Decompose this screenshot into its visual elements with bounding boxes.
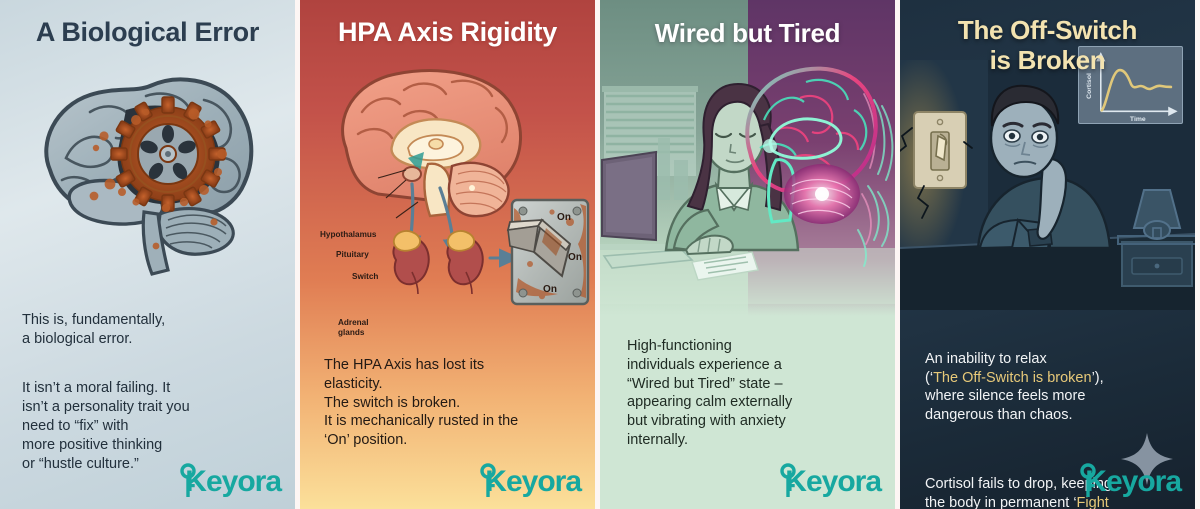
label-switch: Switch: [352, 272, 378, 281]
panel-4-title: The Off-Switch is Broken: [900, 0, 1195, 75]
panel-wired-but-tired: Wired but Tired High-functioning individ…: [600, 0, 895, 509]
key-icon: [478, 463, 498, 497]
panel-2-paragraph-1: The HPA Axis has lost its elasticity. Th…: [324, 356, 584, 450]
panel-3-paragraph-1: High-functioning individuals experience …: [627, 337, 889, 450]
panel-3-body: High-functioning individuals experience …: [627, 318, 889, 469]
keyora-wordmark: Keyora: [785, 467, 881, 497]
chart-y-axis-label: Cortisol: [1086, 73, 1093, 99]
panel-3-title: Wired but Tired: [600, 0, 895, 49]
key-icon: [1078, 463, 1098, 497]
keyora-logo[interactable]: Keyora: [178, 461, 281, 497]
wired-but-tired-illustration: [600, 34, 895, 304]
panel-1-paragraph-1: This is, fundamentally, a biological err…: [22, 311, 277, 349]
keyora-logo[interactable]: Keyora: [1078, 461, 1181, 497]
chart-x-axis-label: Time: [1130, 116, 1146, 123]
label-pituitary: Pituitary: [336, 250, 369, 259]
infographic-board: A Biological Error: [0, 0, 1200, 509]
keyora-logo[interactable]: Keyora: [778, 461, 881, 497]
switch-label-on-bottom: On: [543, 284, 557, 295]
switch-label-on-middle: On: [568, 252, 582, 263]
panel-biological-error: A Biological Error: [0, 0, 295, 509]
switch-label-on-top: On: [557, 212, 571, 223]
panel-hpa-axis-rigidity: HPA Axis Rigidity: [300, 0, 595, 509]
brain-with-rusted-gear-illustration: [18, 62, 280, 277]
label-hypothalamus: Hypothalamus: [320, 230, 376, 239]
keyora-wordmark: Keyora: [185, 467, 281, 497]
keyora-wordmark: Keyora: [1085, 467, 1181, 497]
p4-highlight-off-switch: The Off-Switch is broken: [933, 370, 1092, 386]
key-icon: [778, 463, 798, 497]
panel-1-title: A Biological Error: [0, 0, 295, 48]
key-icon: [178, 463, 198, 497]
panel-4-paragraph-1: An inability to relax (‘The Off-Switch i…: [925, 331, 1185, 425]
panel-2-title: HPA Axis Rigidity: [300, 0, 595, 48]
label-adrenal-glands: Adrenal glands: [338, 318, 368, 339]
hpa-axis-diagram-illustration: On On On: [300, 52, 595, 317]
panel-off-switch-is-broken: The Off-Switch is Broken: [900, 0, 1195, 509]
panel-2-body: The HPA Axis has lost its elasticity. Th…: [324, 337, 584, 469]
keyora-logo[interactable]: Keyora: [478, 461, 581, 497]
keyora-wordmark: Keyora: [485, 467, 581, 497]
panel-1-paragraph-2: It isn’t a moral failing. It isn’t a per…: [22, 379, 277, 473]
